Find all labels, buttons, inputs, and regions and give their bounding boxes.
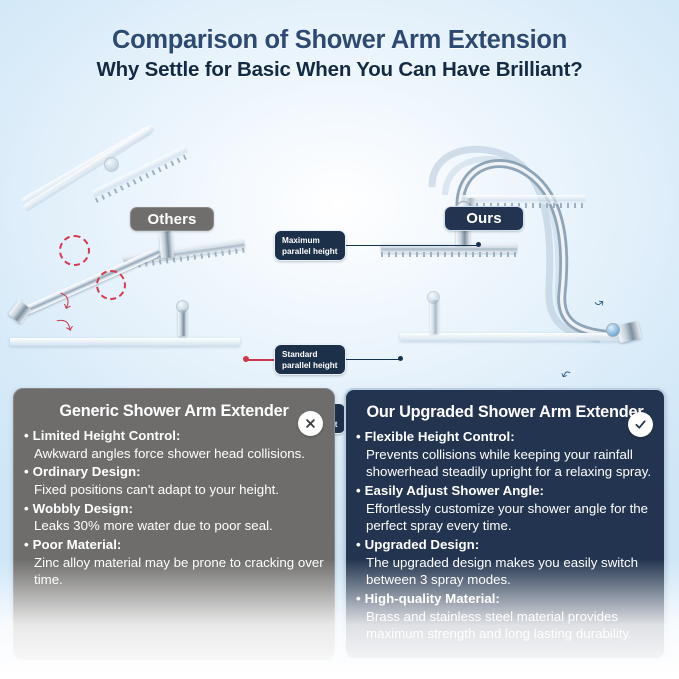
- leader-line-maximum: [346, 245, 478, 246]
- upgraded-card-title: Our Upgraded Shower Arm Extender: [346, 390, 664, 422]
- list-item: Easily Adjust Shower Angle: Effortlessly…: [356, 482, 655, 535]
- bullet-desc: Zinc alloy material may be prone to crac…: [24, 554, 325, 589]
- check-icon: [628, 412, 653, 437]
- upgraded-product-card: Our Upgraded Shower Arm Extender Flexibl…: [344, 388, 666, 660]
- bullet-head: Upgraded Design:: [356, 536, 655, 554]
- bullet-head: Limited Height Control:: [24, 427, 325, 445]
- tag-maximum-line1: Maximum: [282, 236, 338, 247]
- generic-card-title: Generic Shower Arm Extender: [14, 389, 334, 421]
- red-leader-standard: [246, 359, 276, 361]
- leader-line-standard: [346, 359, 400, 360]
- bullet-desc: Leaks 30% more water due to poor seal.: [24, 517, 325, 535]
- tag-maximum-line2: parallel height: [282, 247, 338, 258]
- page-subtitle: Why Settle for Basic When You Can Have B…: [0, 58, 679, 82]
- infographic-page: Comparison of Shower Arm Extension Why S…: [0, 0, 679, 679]
- leader-dot-standard: [398, 356, 403, 361]
- bullet-desc: Fixed positions can't adapt to your heig…: [24, 481, 325, 499]
- list-item: Poor Material: Zinc alloy material may b…: [24, 536, 325, 589]
- ghost-shower-head-right: [462, 195, 586, 204]
- bullet-desc: The upgraded design makes you easily swi…: [356, 554, 655, 589]
- bullet-head: Ordinary Design:: [24, 463, 325, 481]
- bullet-desc: Prevents collisions while keeping your r…: [356, 446, 655, 481]
- tag-standard-line2: parallel height: [282, 361, 338, 372]
- ghost-base-joint-right: [427, 291, 440, 304]
- list-item: High-quality Material: Brass and stainle…: [356, 590, 655, 643]
- others-badge: Others: [130, 207, 214, 231]
- bullet-desc: Brass and stainless steel material provi…: [356, 608, 655, 643]
- list-item: Upgraded Design: The upgraded design mak…: [356, 536, 655, 589]
- bullet-head: Easily Adjust Shower Angle:: [356, 482, 655, 500]
- leader-dot-maximum: [476, 242, 481, 247]
- list-item: Wobbly Design: Leaks 30% more water due …: [24, 500, 325, 535]
- list-item: Limited Height Control: Awkward angles f…: [24, 427, 325, 462]
- product-illustration: ⤵ ⤵ ⤷ ⤷: [0, 95, 679, 370]
- tag-standard-line1: Standard: [282, 350, 338, 361]
- ghost-post-right: [430, 300, 439, 334]
- red-dot-standard: [243, 356, 249, 362]
- floor-plane-right: [400, 333, 630, 341]
- page-title: Comparison of Shower Arm Extension: [0, 26, 679, 55]
- ours-badge: Ours: [444, 206, 524, 231]
- bullet-head: Poor Material:: [24, 536, 325, 554]
- close-icon: [298, 411, 323, 436]
- tag-maximum-parallel-height: Maximum parallel height: [274, 230, 346, 261]
- bullet-head: High-quality Material:: [356, 590, 655, 608]
- tag-standard-parallel-height: Standard parallel height: [274, 344, 346, 375]
- generic-product-card: Generic Shower Arm Extender Limited Heig…: [13, 388, 335, 660]
- bullet-desc: Awkward angles force shower head collisi…: [24, 445, 325, 463]
- upgraded-card-bullets: Flexible Height Control: Prevents collis…: [346, 422, 664, 643]
- bullet-desc: Effortlessly customize your shower angle…: [356, 500, 655, 535]
- list-item: Ordinary Design: Fixed positions can't a…: [24, 463, 325, 498]
- bullet-head: Flexible Height Control:: [356, 428, 655, 446]
- inlet-joint-right: [606, 323, 620, 337]
- list-item: Flexible Height Control: Prevents collis…: [356, 428, 655, 481]
- bullet-head: Wobbly Design:: [24, 500, 325, 518]
- generic-card-bullets: Limited Height Control: Awkward angles f…: [14, 421, 334, 589]
